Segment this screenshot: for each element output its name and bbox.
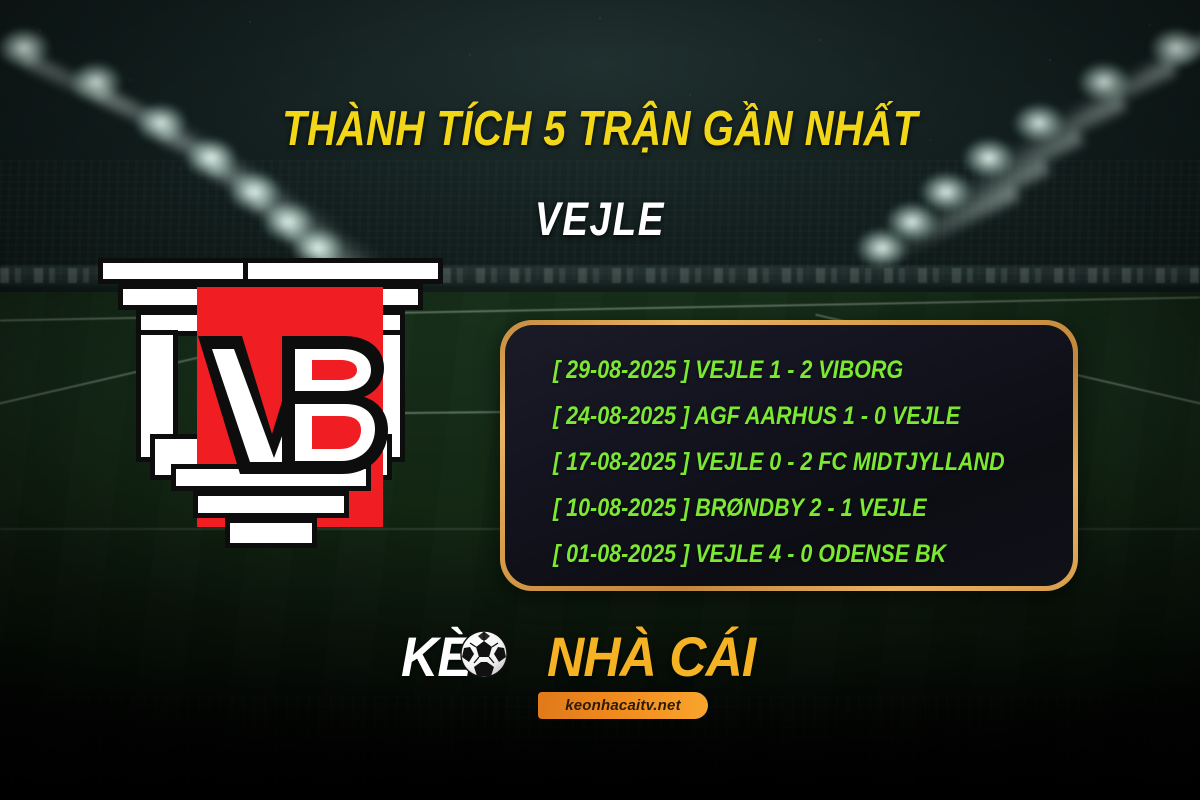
page-title: THÀNH TÍCH 5 TRẬN GẦN NHẤT — [108, 101, 1092, 157]
team-crest — [98, 258, 443, 608]
letter-b-counter-top — [312, 360, 357, 380]
crest-step-bar — [193, 491, 349, 518]
floodlight-icon — [70, 62, 122, 102]
match-result-row: [ 17-08-2025 ] VEJLE 0 - 2 FC MIDTJYLLAN… — [553, 450, 1000, 475]
brand-logo[interactable]: KÈ — [398, 628, 828, 720]
recent-results-list: [ 29-08-2025 ] VEJLE 1 - 2 VIBORG [ 24-0… — [505, 325, 1073, 586]
brand-logo-nhacai-text: NHÀ CÁI — [547, 629, 755, 685]
crest-step-bar — [225, 518, 317, 548]
brand-logo-wordmark: KÈ — [398, 628, 764, 686]
vb-monogram-svg — [194, 330, 394, 480]
crest-monogram — [194, 330, 394, 480]
recent-results-panel: [ 29-08-2025 ] VEJLE 1 - 2 VIBORG [ 24-0… — [500, 320, 1078, 591]
match-result-row: [ 10-08-2025 ] BRØNDBY 2 - 1 VEJLE — [553, 496, 1000, 521]
match-result-row: [ 29-08-2025 ] VEJLE 1 - 2 VIBORG — [553, 358, 1000, 383]
team-name-heading: VEJLE — [108, 191, 1092, 246]
letter-b-counter-bottom — [312, 416, 361, 449]
brand-website-text: keonhacaitv.net — [565, 697, 681, 714]
match-result-row: [ 24-08-2025 ] AGF AARHUS 1 - 0 VEJLE — [553, 404, 1000, 429]
soccer-ball-icon — [460, 630, 508, 678]
floodlight-icon — [0, 28, 50, 68]
match-result-row: [ 01-08-2025 ] VEJLE 4 - 0 ODENSE BK — [553, 542, 1000, 567]
banner-stage: THÀNH TÍCH 5 TRẬN GẦN NHẤT VEJLE — [0, 0, 1200, 800]
crest-step-bar — [243, 258, 443, 284]
brand-website-pill[interactable]: keonhacaitv.net — [538, 692, 708, 719]
